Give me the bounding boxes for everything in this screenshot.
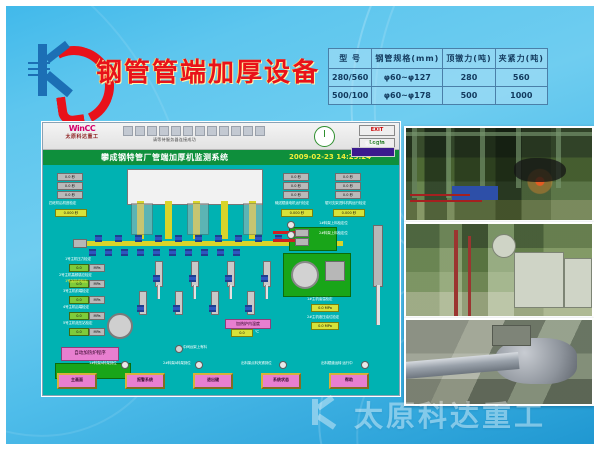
presentation-slide: 钢管管端加厚设备 型 号 钢管规格(mm) 顶镦力(吨) 夹紧力(吨) 280/… [0, 0, 600, 450]
slide-border [0, 0, 600, 450]
